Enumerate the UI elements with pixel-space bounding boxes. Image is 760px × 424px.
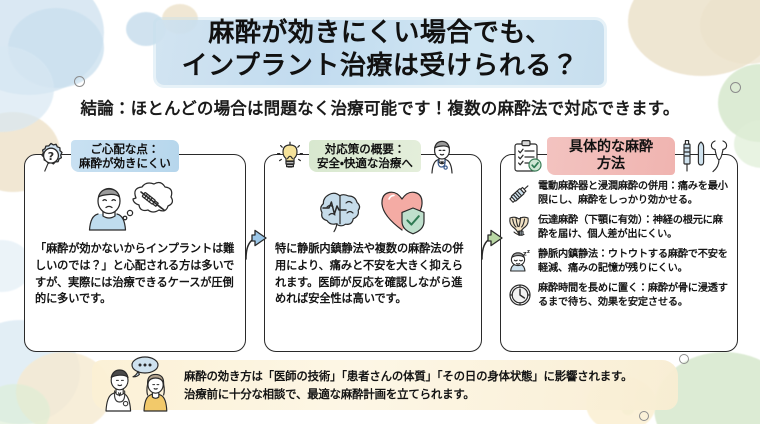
title-line-2: インプラント治療は受けられる？ xyxy=(182,50,579,83)
clipboard-check-icon xyxy=(511,139,543,173)
footer-line-2: 治療前に十分な相談で、最適な麻酔計画を立てられます。 xyxy=(184,386,672,404)
svg-text:?: ? xyxy=(48,150,54,163)
list-item: z z 静脈内鎮静法：ウトウトする麻酔で不安を軽減、痛みの記憶が残りにくい。 xyxy=(507,247,729,277)
worried-person-no-syringe-icon xyxy=(35,183,235,241)
panel-concern-body: 「麻酔が効かないからインプラントは難しいのでは？」と心配される方は多いですが、実… xyxy=(25,181,245,347)
list-item: 麻酔時間を長めに置く：麻酔が骨に浸透するまで待ち、効果を安定させる。 xyxy=(507,281,729,311)
list-item: 伝達麻酔（下顎に有効）：神経の根元に麻酔を届け、個人差が出にくい。 xyxy=(507,213,729,243)
footer-text: 麻酔の効き方は「医師の技術」「患者さんの体質」「その日の身体状態」に影響されます… xyxy=(184,368,672,403)
blob-green-bottomleft xyxy=(0,384,50,424)
title-line-1: 麻酔が効きにくい場合でも、 xyxy=(182,17,579,50)
panel-solution: 対応策の概要： 安全・快適な治療へ xyxy=(264,154,482,352)
page-title: 麻酔が効きにくい場合でも、 インプラント治療は受けられる？ xyxy=(0,14,760,89)
infographic-canvas: 麻酔が効きにくい場合でも、 インプラント治療は受けられる？ 結論：ほとんどの場合… xyxy=(0,0,760,424)
panel-concern-header: ? ご心配な点： 麻酔が効きにくい xyxy=(35,139,239,173)
panel-concern-heading: ご心配な点： 麻酔が効きにくい xyxy=(71,140,179,172)
methods-list: 電動麻酔器と浸潤麻酔の併用：痛みを最小限にし、麻酔をしっかり効かせる。 xyxy=(501,177,737,347)
panels-row: ? ご心配な点： 麻酔が効きにくい xyxy=(0,140,760,355)
panel-concern-text: 「麻酔が効かないからインプラントは難しいのでは？」と心配される方は多いですが、実… xyxy=(35,241,235,308)
syringe-icon xyxy=(507,179,533,207)
panel-solution-body: 特に静脈内鎮静法や複数の麻酔法の併用により、痛みと不安を大きく抑えられます。医師… xyxy=(265,181,481,347)
list-item-text: 静脈内鎮静法：ウトウトする麻酔で不安を軽減、痛みの記憶が残りにくい。 xyxy=(538,247,729,277)
panel-solution-header: 対応策の概要： 安全・快適な治療へ xyxy=(275,139,475,173)
heart-shield-check-icon xyxy=(377,188,431,236)
panel-methods: 具体的な麻酔方法 xyxy=(500,154,738,352)
jaw-nerve-icon xyxy=(507,213,533,241)
panel-concern: ? ご心配な点： 麻酔が効きにくい xyxy=(24,154,246,352)
list-item-text: 伝達麻酔（下顎に有効）：神経の根元に麻酔を届け、個人差が出にくい。 xyxy=(538,213,729,243)
list-item: 電動麻酔器と浸潤麻酔の併用：痛みを最小限にし、麻酔をしっかり効かせる。 xyxy=(507,179,729,209)
panel-solution-text: 特に静脈内鎮静法や複数の麻酔法の併用により、痛みと不安を大きく抑えられます。医師… xyxy=(275,241,471,308)
page-subtitle: 結論：ほとんどの場合は問題なく治療可能です！複数の麻酔法で対応できます。 xyxy=(0,95,760,119)
svg-text:z: z xyxy=(527,249,530,255)
ring-dot-bottomright xyxy=(679,354,689,364)
dental-tools-icon xyxy=(679,138,731,174)
list-item-text: 電動麻酔器と浸潤麻酔の併用：痛みを最小限にし、麻酔をしっかり効かせる。 xyxy=(538,179,729,209)
panel-methods-header: 具体的な麻酔方法 xyxy=(511,139,731,173)
clock-icon xyxy=(507,281,533,309)
panel-solution-art xyxy=(275,183,471,241)
panel-solution-heading: 対応策の概要： 安全・快適な治療へ xyxy=(309,140,421,172)
title-highlight-band: 麻酔が効きにくい場合でも、 インプラント治療は受けられる？ xyxy=(156,14,605,89)
footer-banner: 麻酔の効き方は「医師の技術」「患者さんの体質」「その日の身体状態」に影響されます… xyxy=(92,360,678,414)
panel-methods-heading: 具体的な麻酔方法 xyxy=(547,137,675,175)
footer-line-1: 麻酔の効き方は「医師の技術」「患者さんの体質」「その日の身体状態」に影響されます… xyxy=(184,368,672,386)
brain-ecg-icon xyxy=(315,189,367,235)
gear-question-icon: ? xyxy=(35,140,67,172)
list-item-text: 麻酔時間を長めに置く：麻酔が骨に浸透するまで待ち、効果を安定させる。 xyxy=(538,281,729,311)
lightbulb-icon xyxy=(275,140,305,172)
doctor-patient-consult-icon xyxy=(100,354,186,410)
doctor-icon xyxy=(425,139,459,173)
sleeping-face-icon: z z xyxy=(507,247,533,275)
arrow-panel2-to-panel3 xyxy=(479,226,509,260)
arrow-panel1-to-panel2 xyxy=(243,226,273,260)
